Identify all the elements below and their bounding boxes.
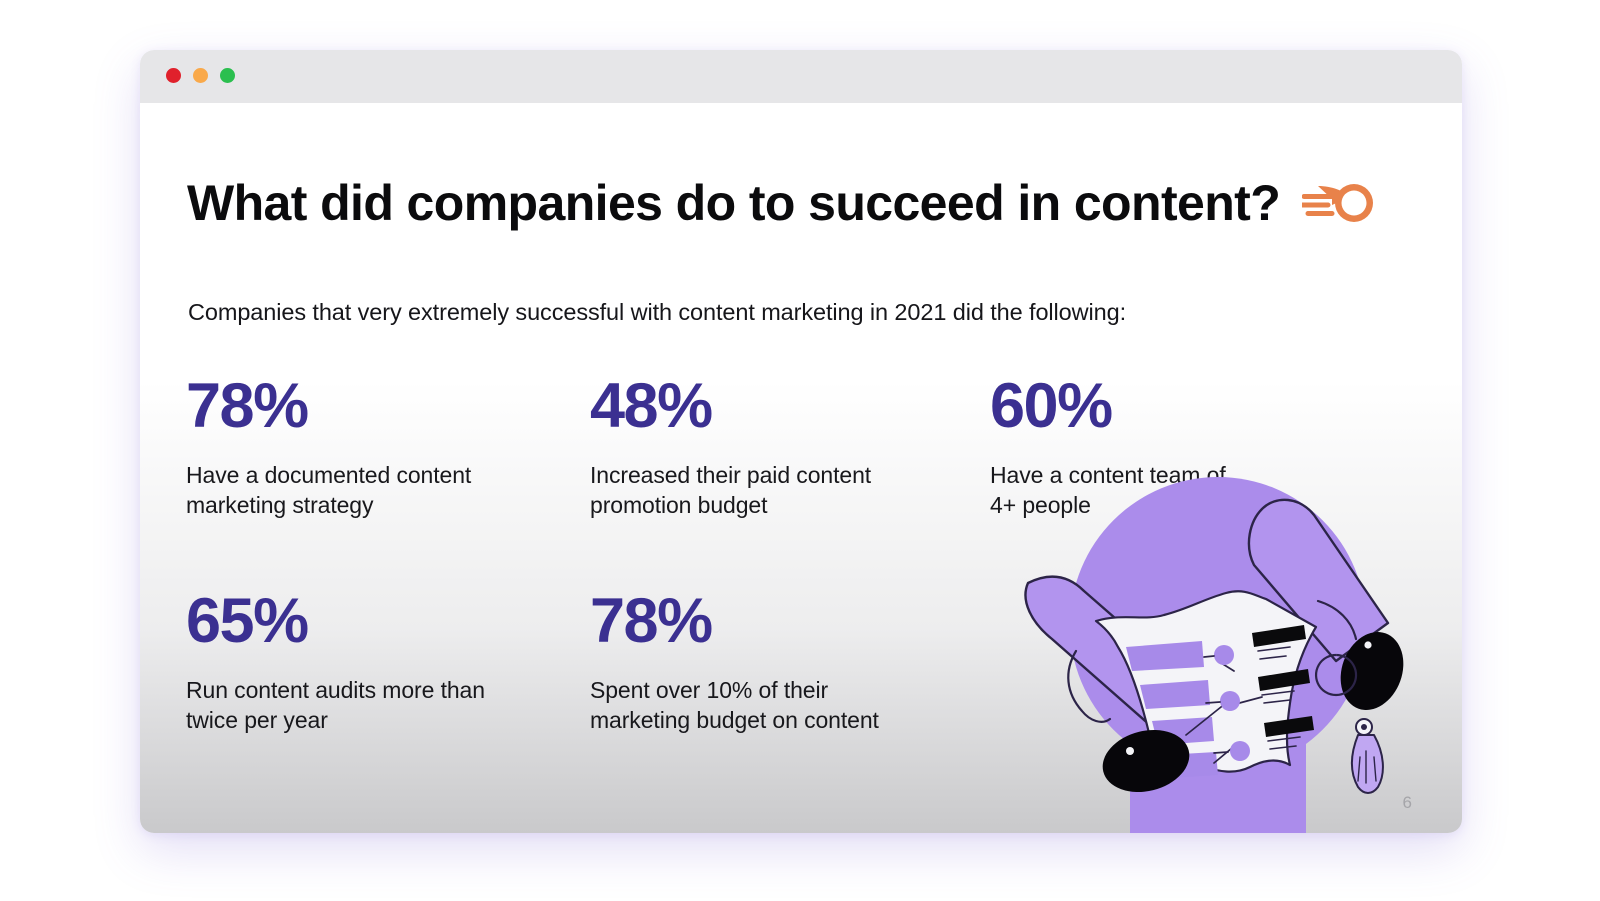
close-button[interactable] <box>166 68 181 83</box>
stat-value: 65% <box>186 590 566 653</box>
maximize-button[interactable] <box>220 68 235 83</box>
headline-row: What did companies do to succeed in cont… <box>187 178 1417 228</box>
traffic-light-buttons <box>166 68 235 83</box>
stat-label: Have a documented content marketing stra… <box>186 460 566 521</box>
stat-label: Run content audits more than twice per y… <box>186 675 566 736</box>
stat-block-2: 48% Increased their paid content promoti… <box>590 375 990 590</box>
page-number: 6 <box>1403 793 1412 813</box>
slide-canvas: What did companies do to succeed in cont… <box>140 103 1462 833</box>
stat-value: 78% <box>186 375 566 438</box>
stat-value: 60% <box>990 375 1362 438</box>
stat-value: 78% <box>590 590 966 653</box>
stat-block-5: 78% Spent over 10% of their marketing bu… <box>590 590 990 736</box>
minimize-button[interactable] <box>193 68 208 83</box>
stat-block-3: 60% Have a content team of 4+ people <box>990 375 1386 590</box>
semrush-logo-icon <box>1302 181 1378 225</box>
stat-value: 48% <box>590 375 966 438</box>
browser-window: What did companies do to succeed in cont… <box>140 50 1462 833</box>
stat-label: Increased their paid content promotion b… <box>590 460 966 521</box>
stat-block-4: 65% Run content audits more than twice p… <box>186 590 590 736</box>
slide-subtitle: Companies that very extremely successful… <box>188 299 1126 326</box>
stat-block-1: 78% Have a documented content marketing … <box>186 375 590 590</box>
page-title: What did companies do to succeed in cont… <box>187 178 1280 228</box>
stat-label: Spent over 10% of their marketing budget… <box>590 675 966 736</box>
window-title-bar <box>140 50 1462 103</box>
stat-label: Have a content team of 4+ people <box>990 460 1362 521</box>
stats-grid: 78% Have a documented content marketing … <box>186 375 1386 736</box>
